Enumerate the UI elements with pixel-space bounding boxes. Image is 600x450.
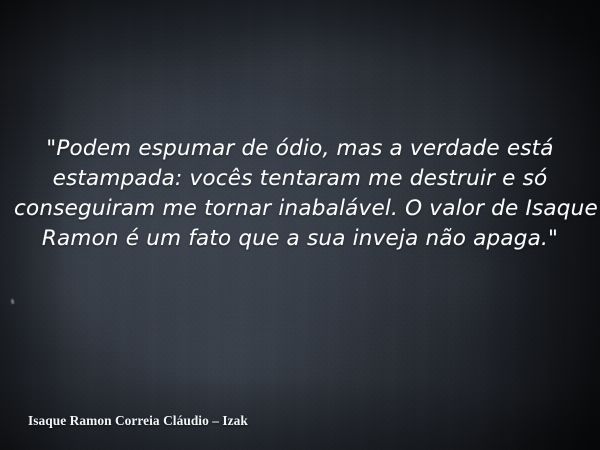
quote-text-block: "Podem espumar de ódio, mas a verdade es…: [0, 134, 600, 254]
quote-line-3: conseguiram me tornar inabalável. O valo…: [14, 194, 586, 224]
quote-attribution: Isaque Ramon Correia Cláudio – Izak: [28, 412, 248, 430]
quote-card: "Podem espumar de ódio, mas a verdade es…: [0, 0, 600, 450]
quote-line-1: "Podem espumar de ódio, mas a verdade es…: [14, 134, 586, 164]
quote-line-4: Ramon é um fato que a sua inveja não apa…: [14, 224, 586, 254]
quote-line-2: estampada: vocês tentaram me destruir e …: [14, 164, 586, 194]
